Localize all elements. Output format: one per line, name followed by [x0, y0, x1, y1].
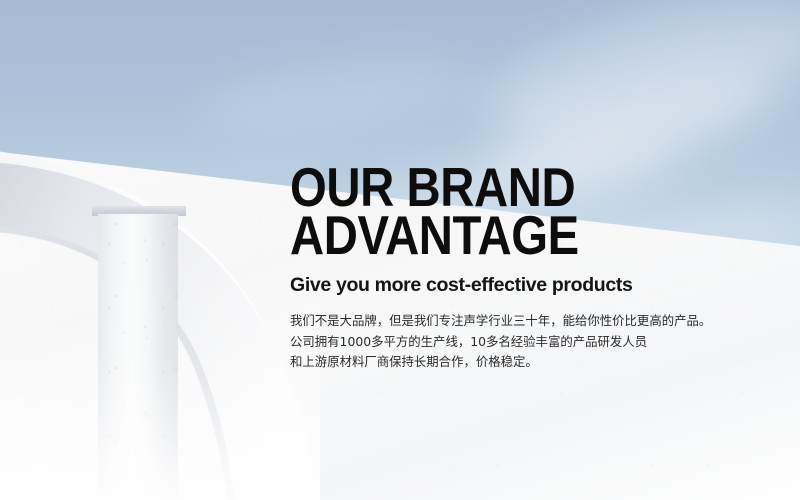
text-content-block: OUR BRAND ADVANTAGE Give you more cost-e…	[290, 163, 760, 373]
cloud-wisp-icon	[472, 0, 800, 167]
cloud-wisp-icon	[196, 41, 483, 149]
support-column	[98, 214, 178, 500]
body-copy-line: 我们不是大品牌，但是我们专注声学行业三十年，能给你性价比更高的产品。	[290, 311, 760, 332]
headline-line-2: ADVANTAGE	[290, 211, 694, 259]
brand-advantage-banner: OUR BRAND ADVANTAGE Give you more cost-e…	[0, 0, 800, 500]
body-copy-line: 和上游原材料厂商保持长期合作，价格稳定。	[290, 352, 760, 373]
subheadline: Give you more cost-effective products	[290, 273, 760, 297]
body-copy-line: 公司拥有1000多平方的生产线，10多名经验丰富的产品研发人员	[290, 332, 760, 353]
column-texture	[98, 214, 178, 500]
body-copy: 我们不是大品牌，但是我们专注声学行业三十年，能给你性价比更高的产品。 公司拥有1…	[290, 311, 760, 373]
